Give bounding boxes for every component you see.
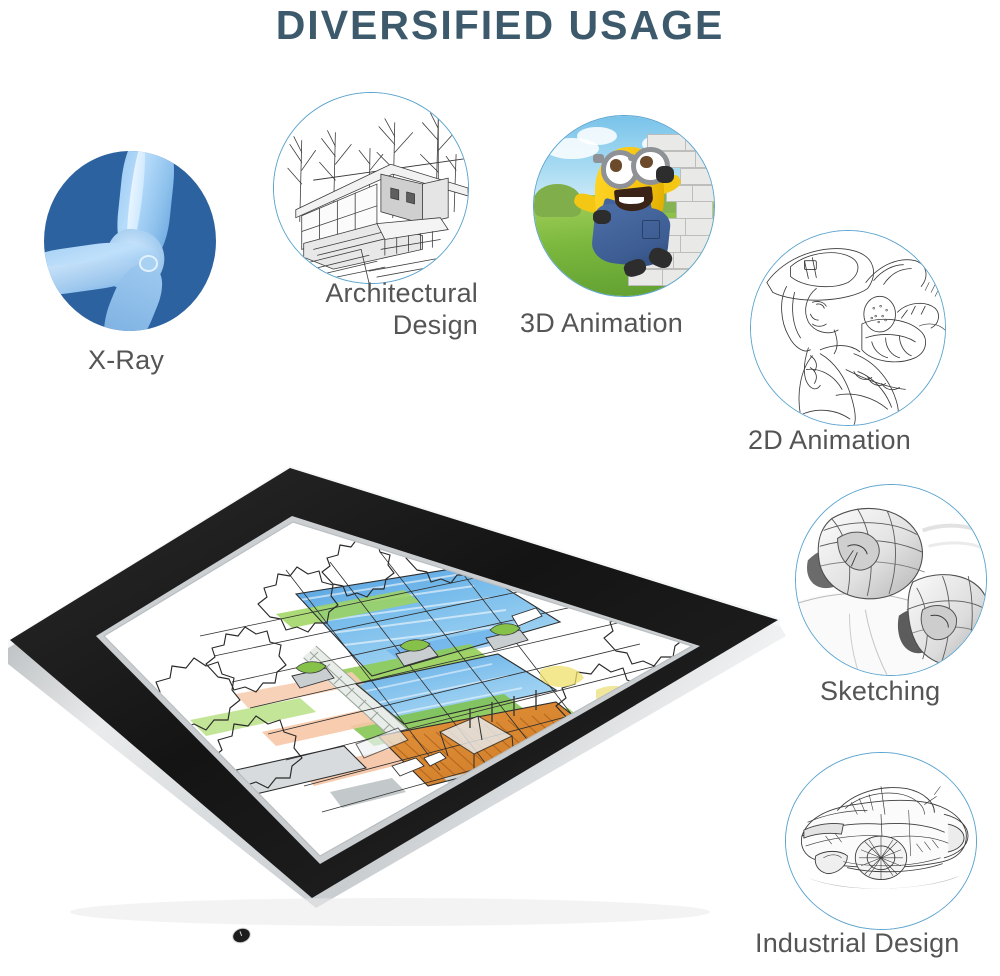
2d-lineart-artwork xyxy=(751,231,945,425)
minion-character xyxy=(534,116,714,296)
industrial-design-icon xyxy=(785,752,977,930)
architectural-design-icon xyxy=(273,92,469,284)
light-pad-illustration xyxy=(0,440,800,940)
light-pad-device xyxy=(0,440,800,940)
architectural-design-label: Architectural Design xyxy=(258,278,478,342)
product-feature-graphic: DIVERSIFIED USAGE X-Ray xyxy=(0,0,1000,976)
3d-animation-label: 3D Animation xyxy=(520,308,780,340)
architectural-sketch-artwork xyxy=(274,93,468,283)
2d-animation-icon xyxy=(750,230,946,426)
xray-elbow-artwork xyxy=(44,151,216,331)
sketching-icon xyxy=(795,484,987,676)
car-concept-sketch-artwork xyxy=(786,753,976,929)
page-title: DIVERSIFIED USAGE xyxy=(0,2,1000,49)
3d-character-artwork xyxy=(534,116,714,296)
x-ray-label: X-Ray xyxy=(88,345,288,377)
x-ray-icon xyxy=(44,151,216,331)
3d-animation-icon xyxy=(533,115,715,297)
sketching-label: Sketching xyxy=(820,676,1000,708)
pencil-sketch-artwork xyxy=(796,485,986,675)
